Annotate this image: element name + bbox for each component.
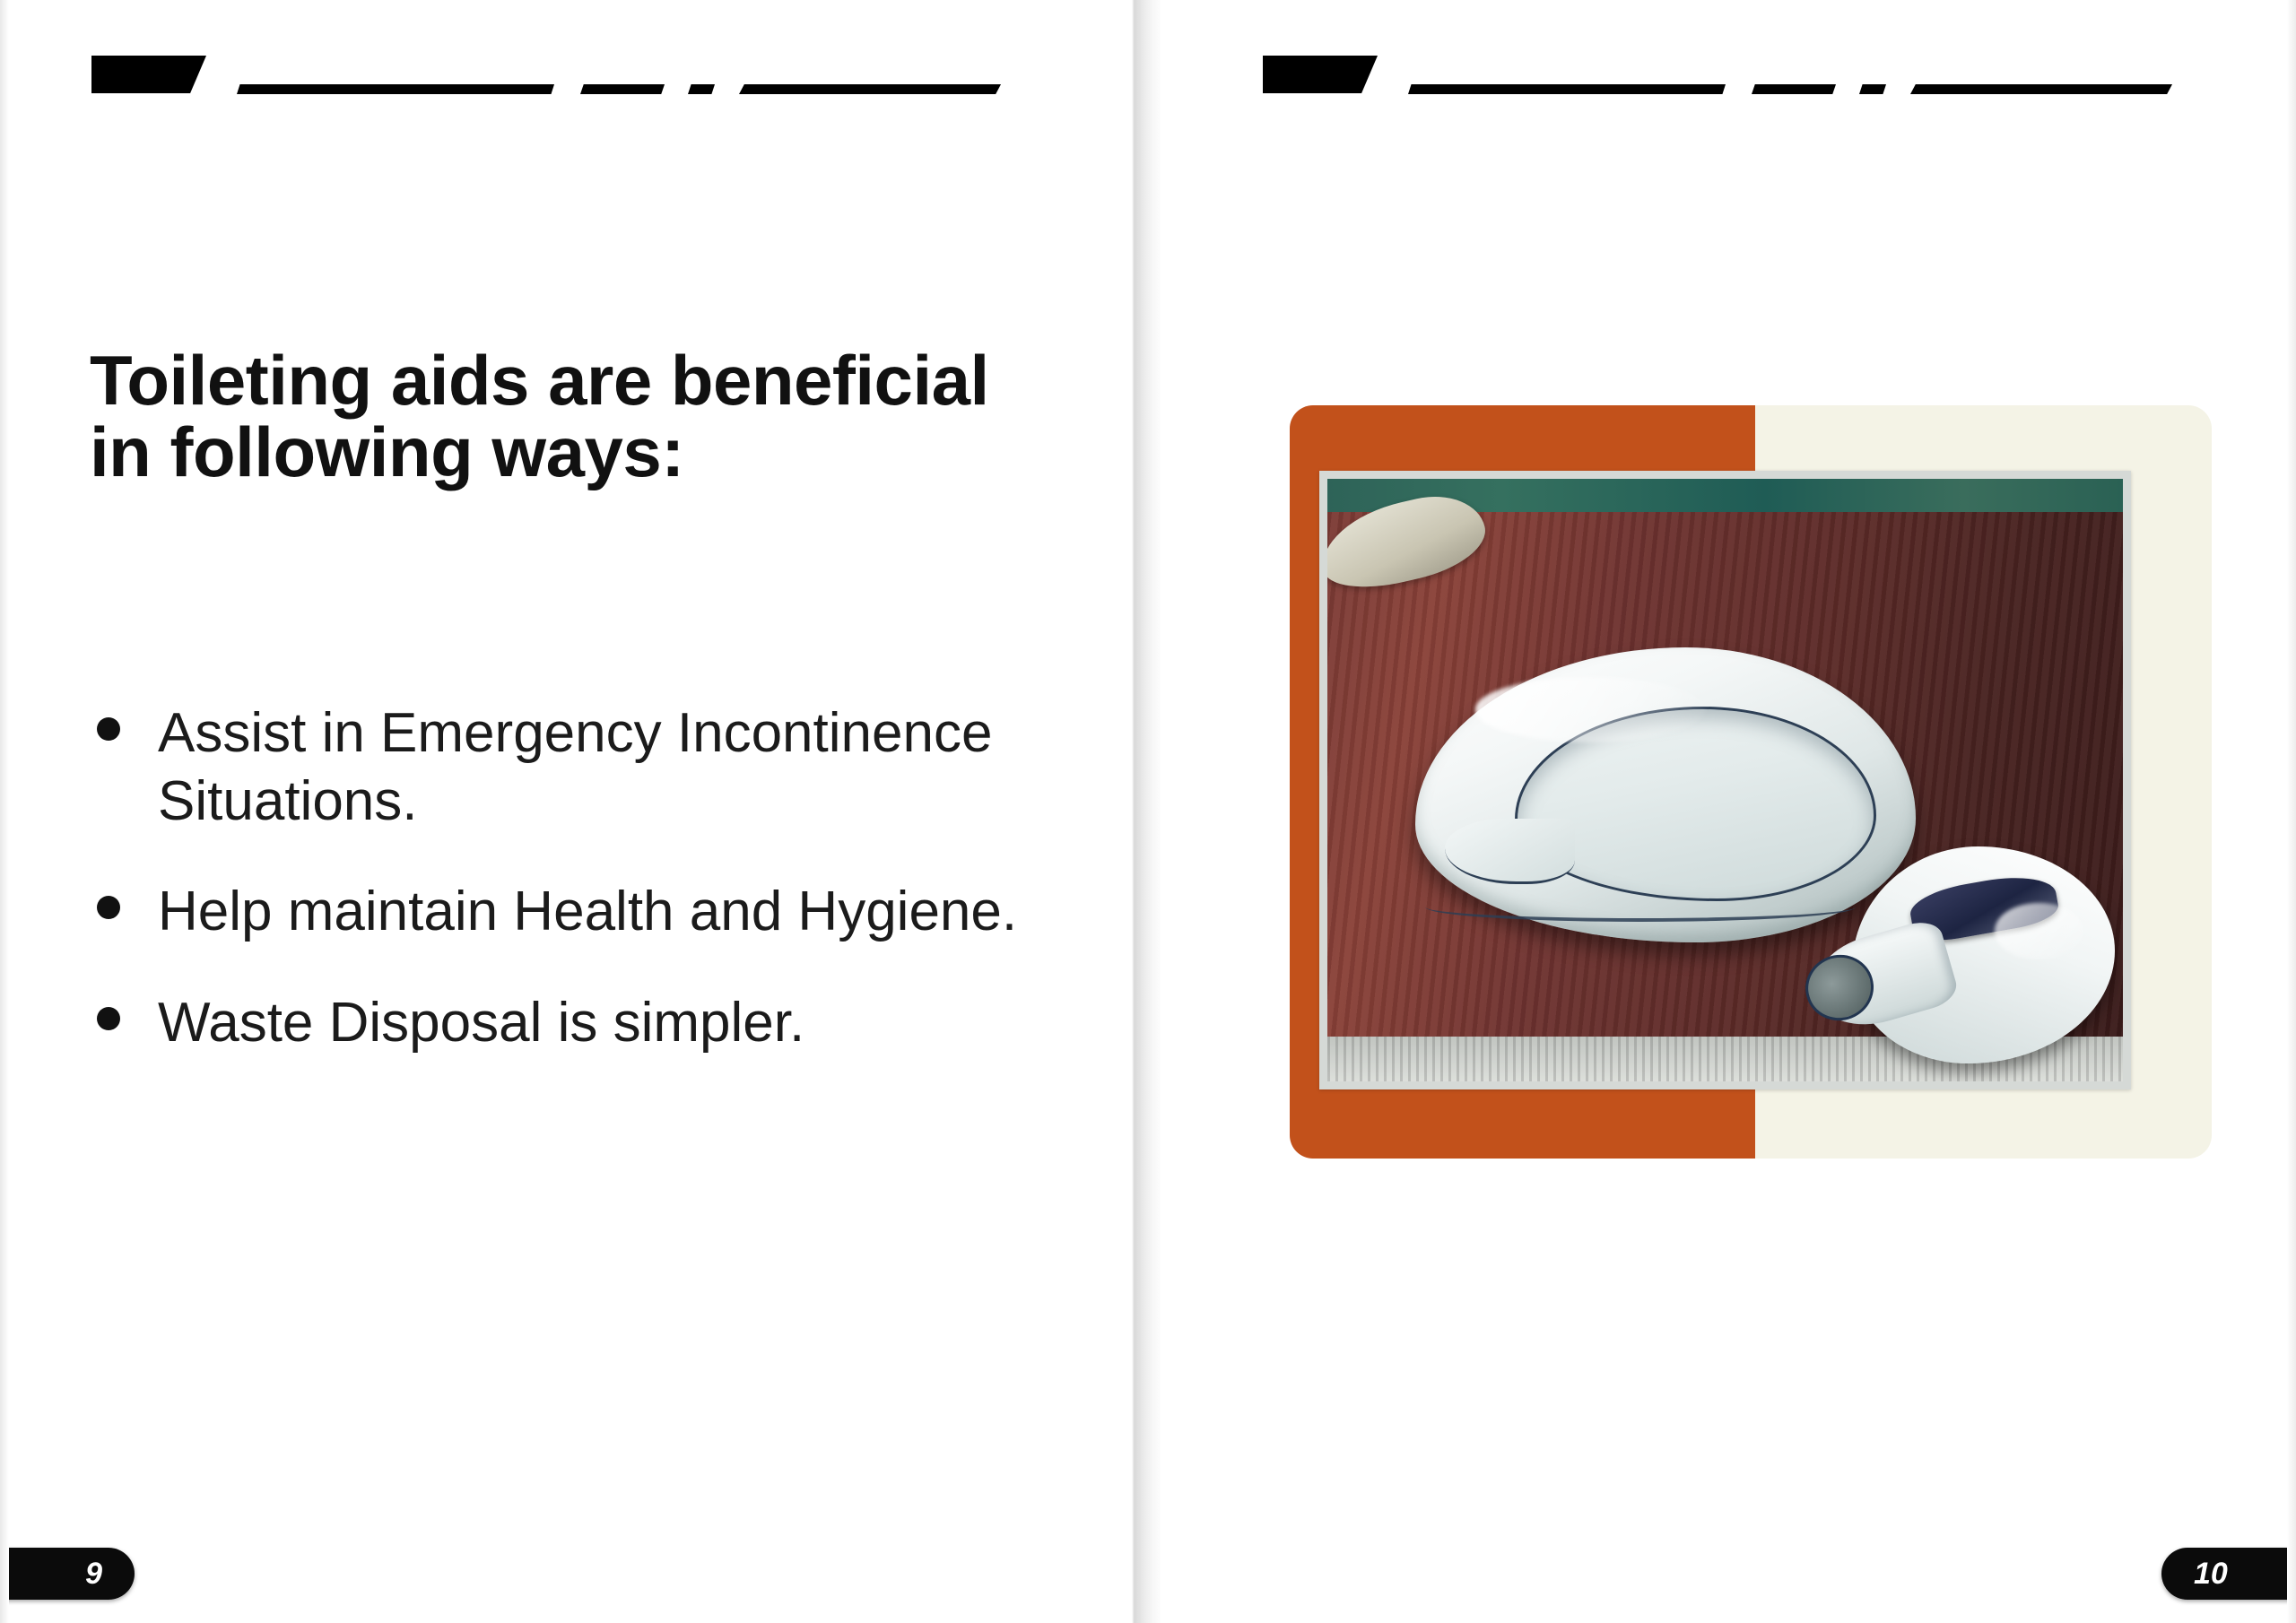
list-item-label: Waste Disposal is simpler. [158,992,804,1054]
round-bullet-icon [97,717,120,741]
dot-dash-icon [688,84,715,94]
left-header-decoration [91,39,1096,81]
image-composition [1290,405,2212,1159]
page-number-label: 9 [85,1557,102,1592]
bedpan-notch [1445,819,1575,883]
page-number-label: 10 [2194,1557,2228,1592]
spine-shadow [1132,0,1162,1623]
photo-frame [1319,471,2131,1089]
short-dash-icon [1752,84,1836,94]
page-number-badge-right: 10 [2161,1548,2296,1600]
page-number-badge-left: 9 [0,1548,135,1600]
list-item-label: Help maintain Health and Hygiene. [158,881,1017,942]
bullet-list: Assist in Emergency Incontinence Situati… [90,699,1040,1100]
urinal-highlight [1995,903,2084,959]
list-item: Waste Disposal is simpler. [90,989,1040,1057]
list-item: Help maintain Health and Hygiene. [90,878,1040,946]
two-page-spread: Toileting aids are beneficial in followi… [0,0,2296,1623]
list-item-label: Assist in Emergency Incontinence Situati… [158,702,992,832]
parallelogram-block-icon [1263,56,1378,93]
parallelogram-block-icon [91,56,206,93]
right-header-decoration [1263,39,2267,81]
short-dash-icon [580,84,665,94]
right-page: 10 [1161,0,2296,1623]
medium-dash-icon [1910,84,2172,94]
book-spine [1132,0,1162,1623]
medium-dash-icon [739,84,1001,94]
page-title: Toileting aids are beneficial in followi… [90,345,1004,488]
bedpan-urinal-photo [1327,479,2123,1081]
round-bullet-icon [97,896,120,919]
round-bullet-icon [97,1007,120,1030]
long-dash-icon [237,84,554,94]
left-page: Toileting aids are beneficial in followi… [0,0,1135,1623]
dot-dash-icon [1859,84,1886,94]
long-dash-icon [1408,84,1726,94]
list-item: Assist in Emergency Incontinence Situati… [90,699,1040,835]
bedpan-highlight [1475,677,1706,742]
